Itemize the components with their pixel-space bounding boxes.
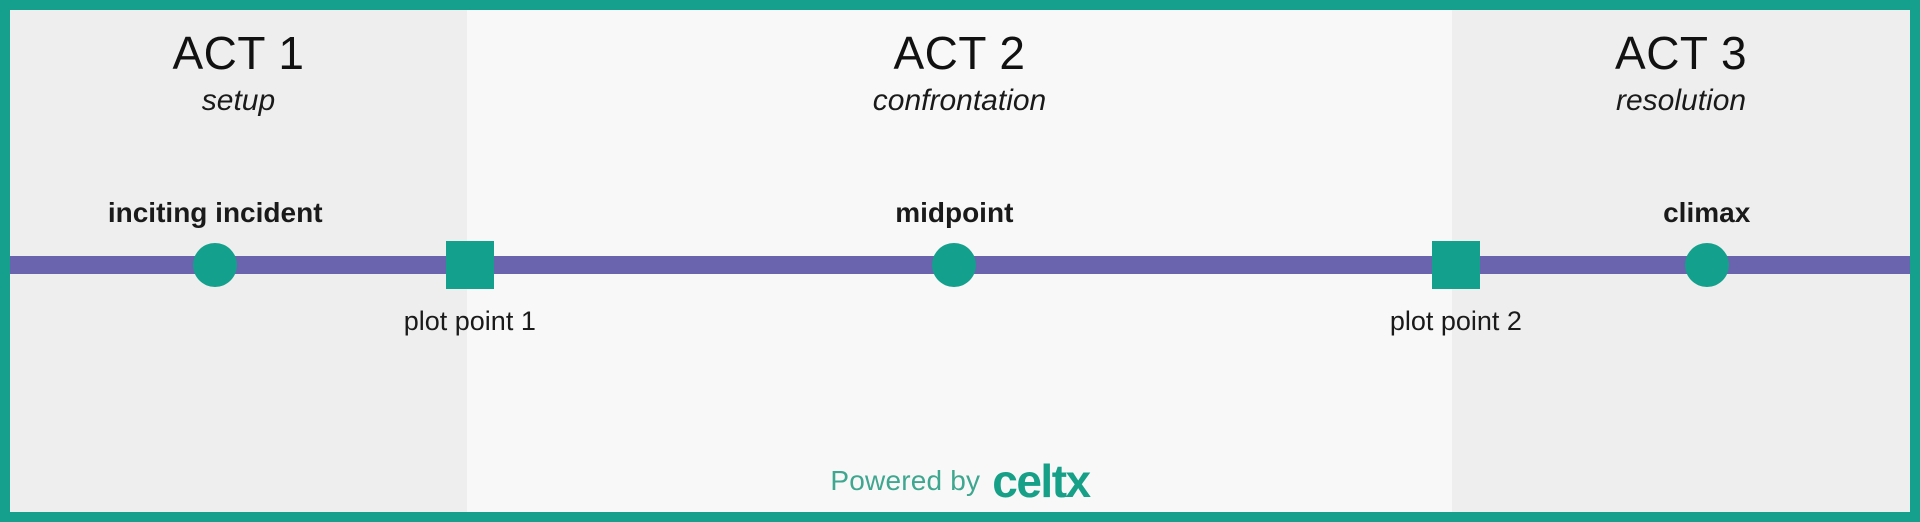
marker-label-plot-point-2: plot point 2 [1390,305,1522,337]
marker-square-icon [1432,241,1480,289]
powered-by-label: Powered by [830,465,980,497]
celtx-logo-wordmark: celtx [992,458,1089,504]
marker-square-icon [446,241,494,289]
marker-label-midpoint: midpoint [895,197,1013,229]
marker-circle-icon [193,243,237,287]
marker-circle-icon [1685,243,1729,287]
footer-branding: Powered by celtx [10,450,1910,512]
marker-label-climax: climax [1663,197,1750,229]
three-act-structure-diagram: ACT 1setupACT 2confrontationACT 3resolut… [0,0,1920,522]
timeline-markers: inciting incidentplot point 1midpointplo… [10,10,1910,512]
marker-label-plot-point-1: plot point 1 [404,305,536,337]
marker-circle-icon [932,243,976,287]
marker-label-inciting-incident: inciting incident [108,197,323,229]
diagram-canvas: ACT 1setupACT 2confrontationACT 3resolut… [10,10,1910,512]
